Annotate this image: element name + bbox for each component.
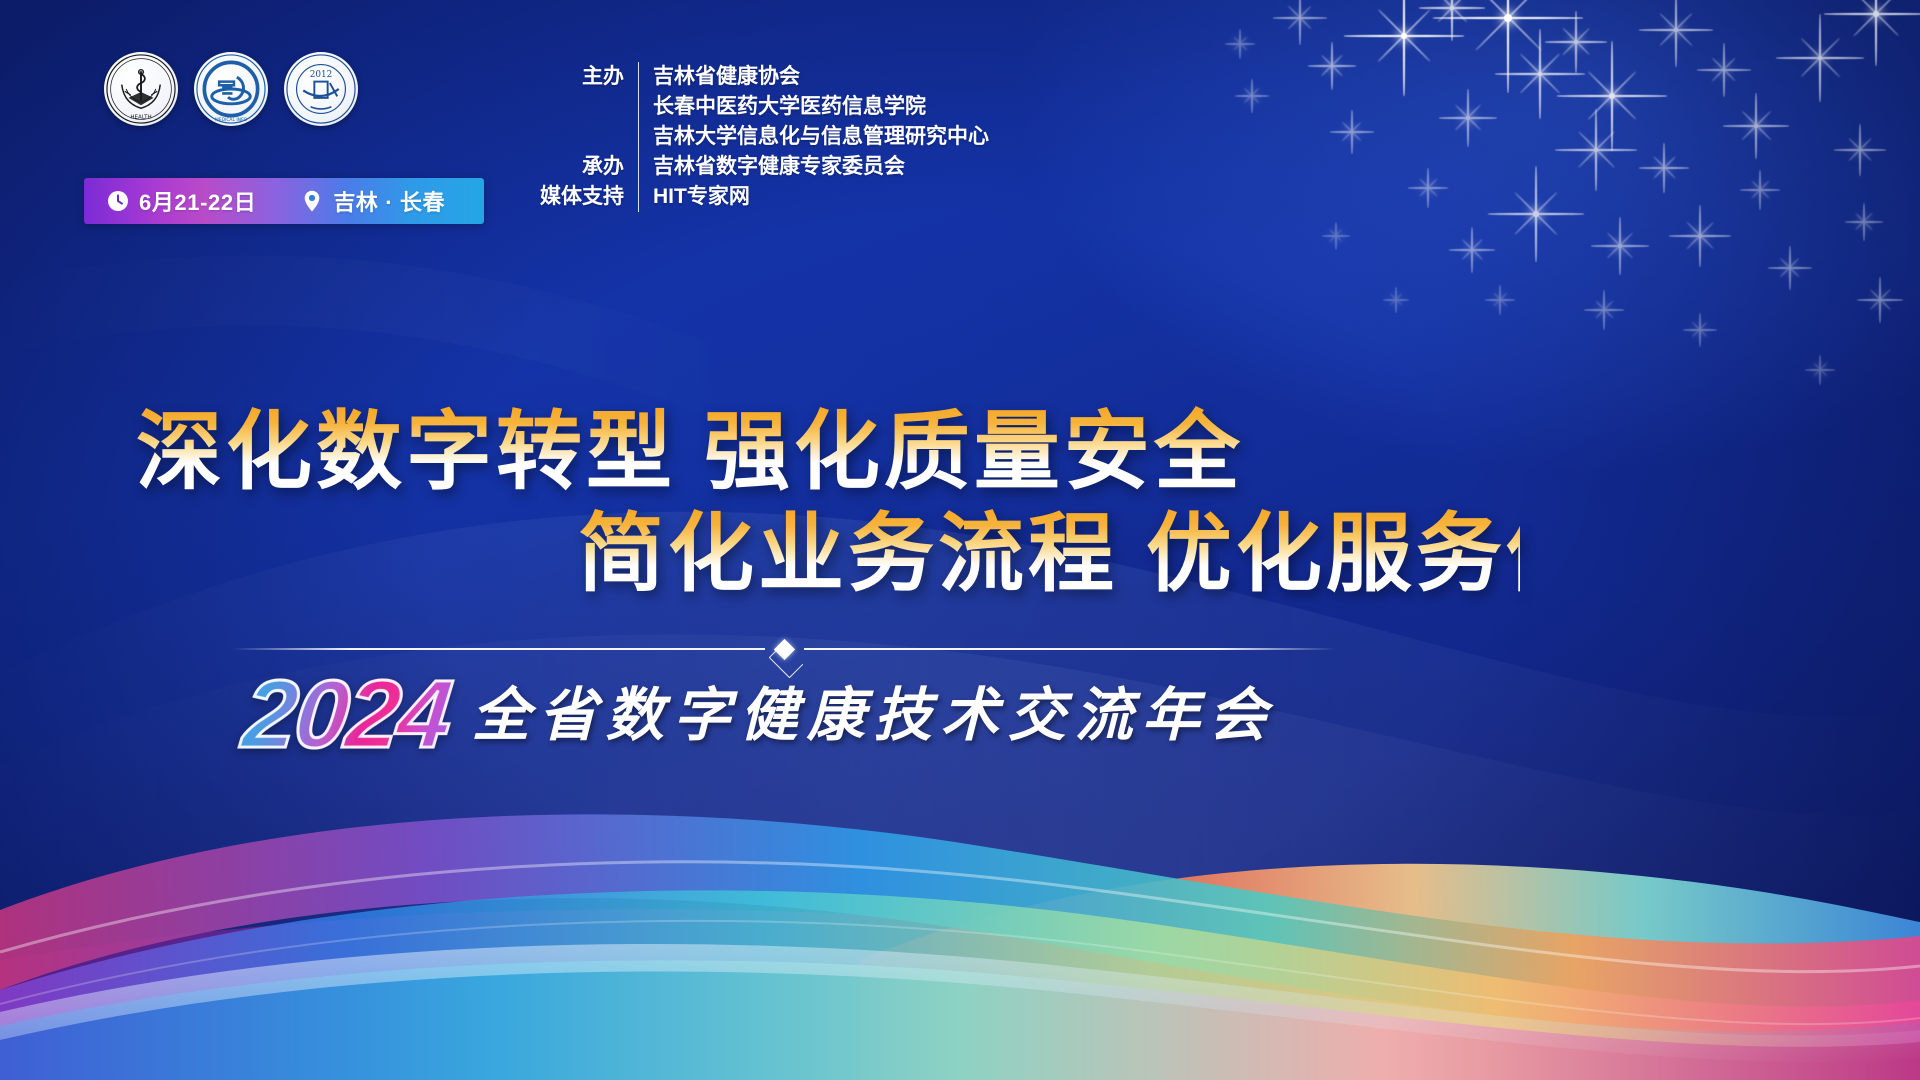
event-year: 2024 [239, 670, 454, 760]
credit-value: 吉林大学信息化与信息管理研究中心 [653, 122, 989, 152]
credit-label: 主办 [582, 62, 624, 92]
credit-value: 长春中医药大学医药信息学院 [653, 92, 989, 122]
headline-block: 深化数字转型 强化质量安全 简化业务流程 优化服务体验 [0, 404, 1520, 603]
date-location-bar: 6月21-22日 吉林 · 长春 [84, 178, 484, 224]
map-pin-icon [300, 189, 324, 213]
credit-labels: 主办 承办 媒体支持 [540, 62, 624, 212]
organizer-logos: HEALTH MEDICAL INFO 2012 [104, 52, 358, 126]
credit-value: HIT专家网 [653, 182, 989, 212]
date-item: 6月21-22日 [106, 185, 256, 217]
svg-text:MEDICAL INFO: MEDICAL INFO [215, 117, 248, 123]
credit-label: 承办 [582, 152, 624, 182]
credits-block: 主办 承办 媒体支持 吉林省健康协会 长春中医药大学医药信息学院 吉林大学信息化… [540, 62, 989, 212]
divider-line-left [232, 648, 765, 650]
credit-value: 吉林省数字健康专家委员会 [653, 152, 989, 182]
event-subtitle: 全省数字健康技术交流年会 [472, 668, 1276, 760]
date-text: 6月21-22日 [139, 185, 256, 217]
jilin-university-informatization-research-center-emblem: 2012 [284, 52, 358, 126]
event-title-row: 2024 全省数字健康技术交流年会 [0, 668, 1580, 760]
conference-poster: HEALTH MEDICAL INFO 2012 [0, 0, 1920, 1080]
headline-line-2: 简化业务流程 优化服务体验 [0, 506, 1520, 602]
credit-values: 吉林省健康协会 长春中医药大学医药信息学院 吉林大学信息化与信息管理研究中心 吉… [653, 62, 989, 212]
jilin-health-association-emblem: HEALTH [104, 52, 178, 126]
svg-text:2012: 2012 [310, 70, 333, 80]
svg-text:HEALTH: HEALTH [130, 115, 151, 121]
credit-value: 吉林省健康协会 [653, 62, 989, 92]
ornamental-divider [232, 636, 1336, 662]
location-item: 吉林 · 长春 [300, 185, 445, 217]
changchun-tcm-university-medical-information-emblem: MEDICAL INFO [194, 52, 268, 126]
divider-line-right [804, 648, 1337, 650]
location-text: 吉林 · 长春 [333, 185, 445, 217]
headline-line-1: 深化数字转型 强化质量安全 [0, 404, 1520, 500]
credit-label: 媒体支持 [540, 182, 624, 212]
credits-divider-rule [638, 62, 639, 212]
clock-icon [106, 189, 130, 213]
